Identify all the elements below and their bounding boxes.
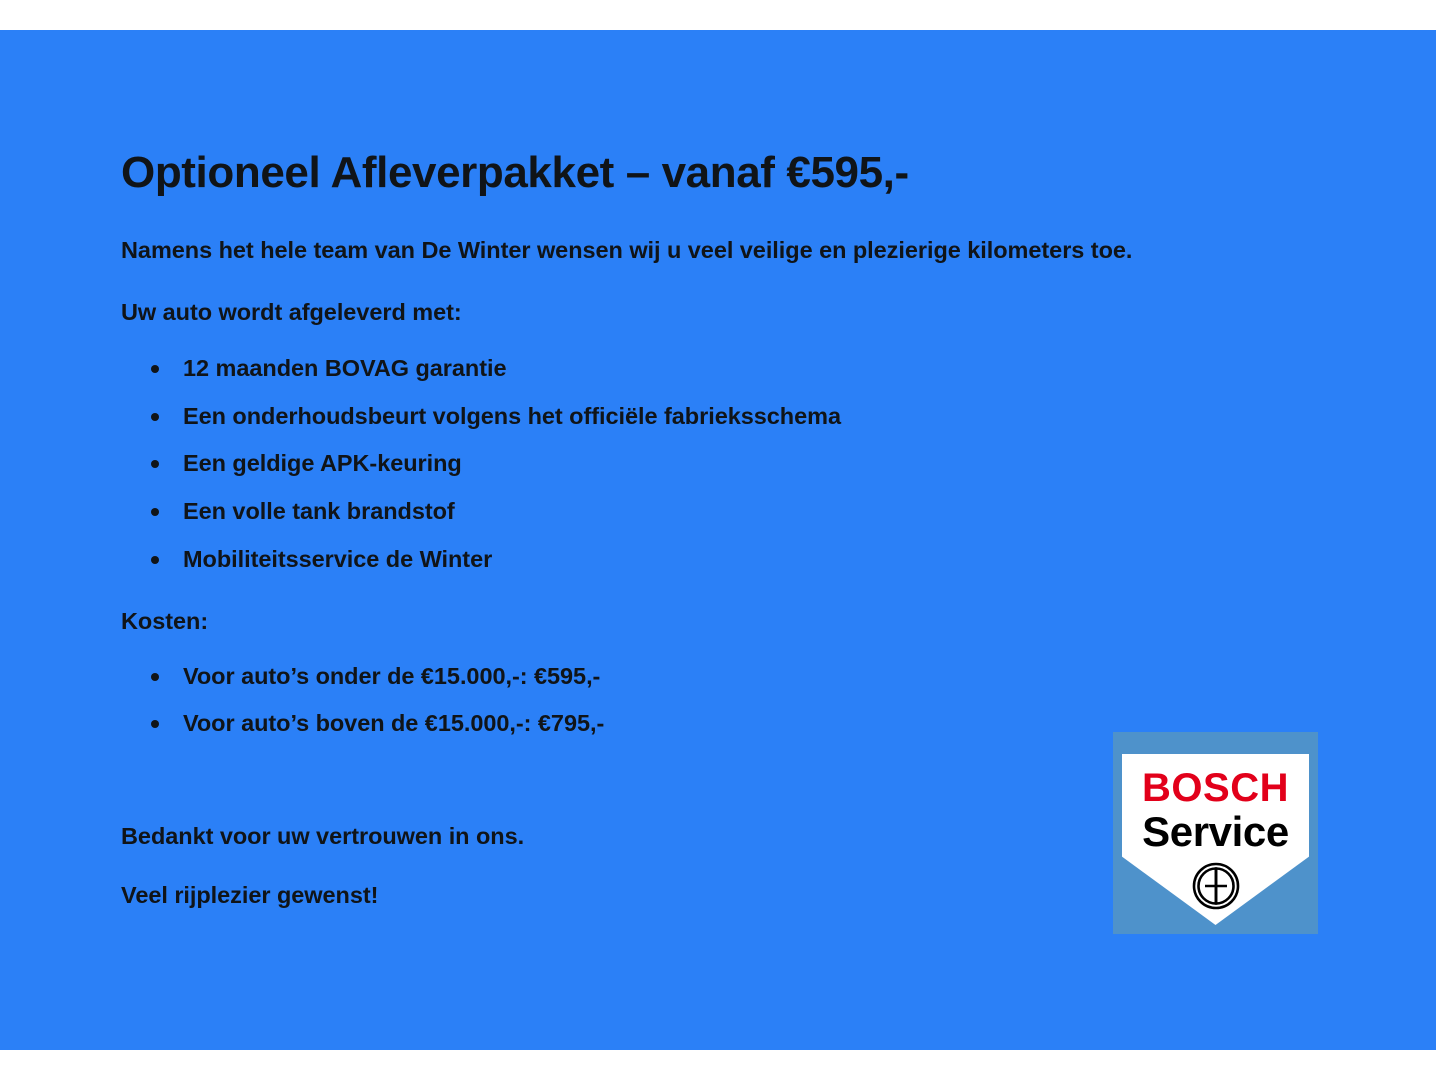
list-item: Een onderhoudsbeurt volgens het officiël…	[121, 401, 1301, 432]
bullet-dot-icon	[151, 673, 159, 681]
costs-list: Voor auto’s onder de €15.000,-: €595,- V…	[121, 661, 1301, 739]
bosch-armature-emblem-icon	[1191, 861, 1241, 911]
bosch-service-logo: BOSCH Service	[1113, 732, 1318, 934]
list-item: Een volle tank brandstof	[121, 496, 1301, 527]
list-item-label: 12 maanden BOVAG garantie	[183, 355, 507, 381]
bullet-dot-icon	[151, 508, 159, 516]
bullet-dot-icon	[151, 460, 159, 468]
list-item-label: Voor auto’s boven de €15.000,-: €795,-	[183, 710, 604, 736]
list-item: Mobiliteitsservice de Winter	[121, 544, 1301, 575]
list-item: Voor auto’s onder de €15.000,-: €595,-	[121, 661, 1301, 692]
list-item-label: Een onderhoudsbeurt volgens het officiël…	[183, 403, 841, 429]
list-item: 12 maanden BOVAG garantie	[121, 353, 1301, 384]
delivery-features-list: 12 maanden BOVAG garantie Een onderhouds…	[121, 353, 1301, 574]
bosch-wordmark: BOSCH	[1122, 768, 1309, 808]
page-title: Optioneel Afleverpakket – vanaf €595,-	[121, 148, 1301, 197]
list-item: Een geldige APK-keuring	[121, 448, 1301, 479]
costs-heading: Kosten:	[121, 606, 1301, 637]
bullet-dot-icon	[151, 556, 159, 564]
logo-shield-shape: BOSCH Service	[1122, 754, 1309, 925]
intro-paragraph: Namens het hele team van De Winter wense…	[121, 235, 1301, 266]
slide-canvas: Optioneel Afleverpakket – vanaf €595,- N…	[0, 30, 1436, 1050]
delivery-lead-in: Uw auto wordt afgeleverd met:	[121, 297, 1301, 328]
list-item-label: Een geldige APK-keuring	[183, 450, 462, 476]
bullet-dot-icon	[151, 365, 159, 373]
list-item-label: Mobiliteitsservice de Winter	[183, 546, 492, 572]
list-item-label: Voor auto’s onder de €15.000,-: €595,-	[183, 663, 600, 689]
slide-frame: Optioneel Afleverpakket – vanaf €595,- N…	[0, 0, 1440, 1080]
bullet-dot-icon	[151, 413, 159, 421]
service-wordmark: Service	[1122, 811, 1309, 853]
bullet-dot-icon	[151, 720, 159, 728]
list-item-label: Een volle tank brandstof	[183, 498, 455, 524]
